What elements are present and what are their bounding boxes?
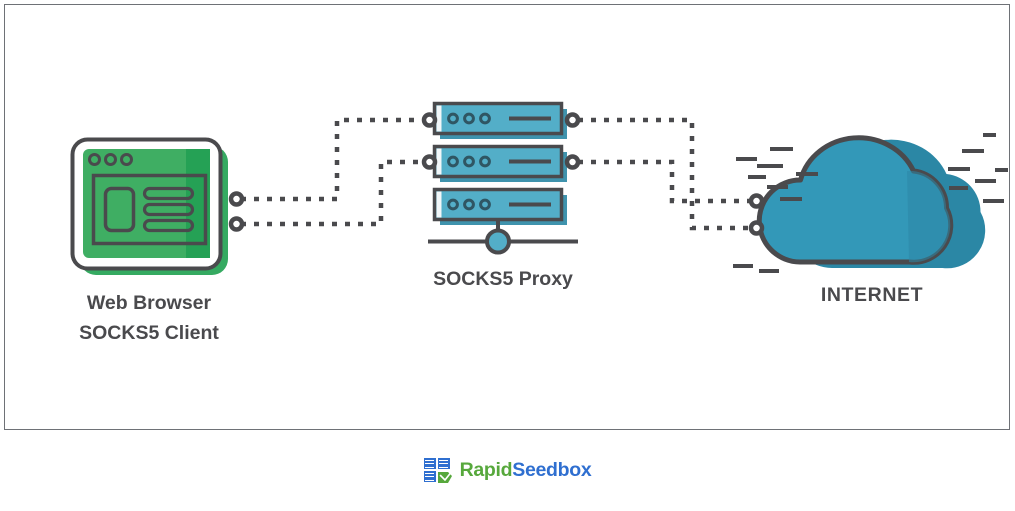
rapidseedbox-logo-mark — [424, 458, 453, 484]
connection-proxy-to-internet-upper — [578, 120, 751, 228]
footer: RapidSeedbox — [0, 430, 1015, 511]
connection-proxy-to-internet-lower — [578, 162, 751, 201]
client-label-line-2: SOCKS5 Client — [79, 322, 219, 344]
logo-square-top-right — [438, 458, 450, 469]
server-2-led-3 — [481, 157, 490, 166]
connection-client-to-proxy-upper — [241, 120, 424, 199]
server-unit-3 — [435, 190, 562, 220]
rapidseedbox-logo-text: RapidSeedbox — [460, 461, 592, 481]
client-label-line-1: Web Browser — [87, 292, 212, 314]
server-1-edge — [437, 106, 442, 132]
proxy-out-port-1 — [567, 115, 578, 126]
proxy-in-port-2 — [424, 157, 435, 168]
connection-group-proxy-internet — [578, 120, 751, 228]
diagram-canvas: Web Browser SOCKS5 Client SOCKS5 Proxy I… — [0, 0, 1015, 511]
server-1-led-3 — [481, 114, 490, 123]
connection-group-client-proxy — [241, 120, 424, 224]
internet-port-1 — [751, 196, 762, 207]
logo-square-bottom-left — [424, 471, 436, 482]
connection-client-to-proxy-lower — [241, 162, 424, 224]
server-2-edge — [437, 149, 442, 175]
client-port-1 — [231, 194, 242, 205]
internet-port-2 — [751, 223, 762, 234]
server-bus-hub — [487, 231, 509, 253]
logo-text-seedbox: Seedbox — [512, 459, 591, 481]
cloud-icon — [733, 135, 1008, 271]
server-2-led-1 — [449, 157, 458, 166]
logo-square-top-left — [424, 458, 436, 469]
internet-label: INTERNET — [821, 284, 923, 306]
rapidseedbox-logo[interactable]: RapidSeedbox — [424, 458, 592, 484]
server-stack-icon — [428, 104, 578, 253]
server-3-led-2 — [465, 200, 474, 209]
logo-green-arrow-icon — [437, 469, 453, 484]
logo-text-rapid: Rapid — [460, 459, 513, 481]
server-3-led-3 — [481, 200, 490, 209]
server-3-led-1 — [449, 200, 458, 209]
proxy-label: SOCKS5 Proxy — [433, 268, 573, 290]
proxy-out-port-2 — [567, 157, 578, 168]
server-unit-1 — [435, 104, 562, 134]
server-unit-2 — [435, 147, 562, 177]
proxy-in-port-1 — [424, 115, 435, 126]
server-1-led-2 — [465, 114, 474, 123]
server-3-edge — [437, 192, 442, 218]
client-port-2 — [231, 219, 242, 230]
web-browser-icon — [73, 140, 229, 276]
server-2-led-2 — [465, 157, 474, 166]
server-1-led-1 — [449, 114, 458, 123]
